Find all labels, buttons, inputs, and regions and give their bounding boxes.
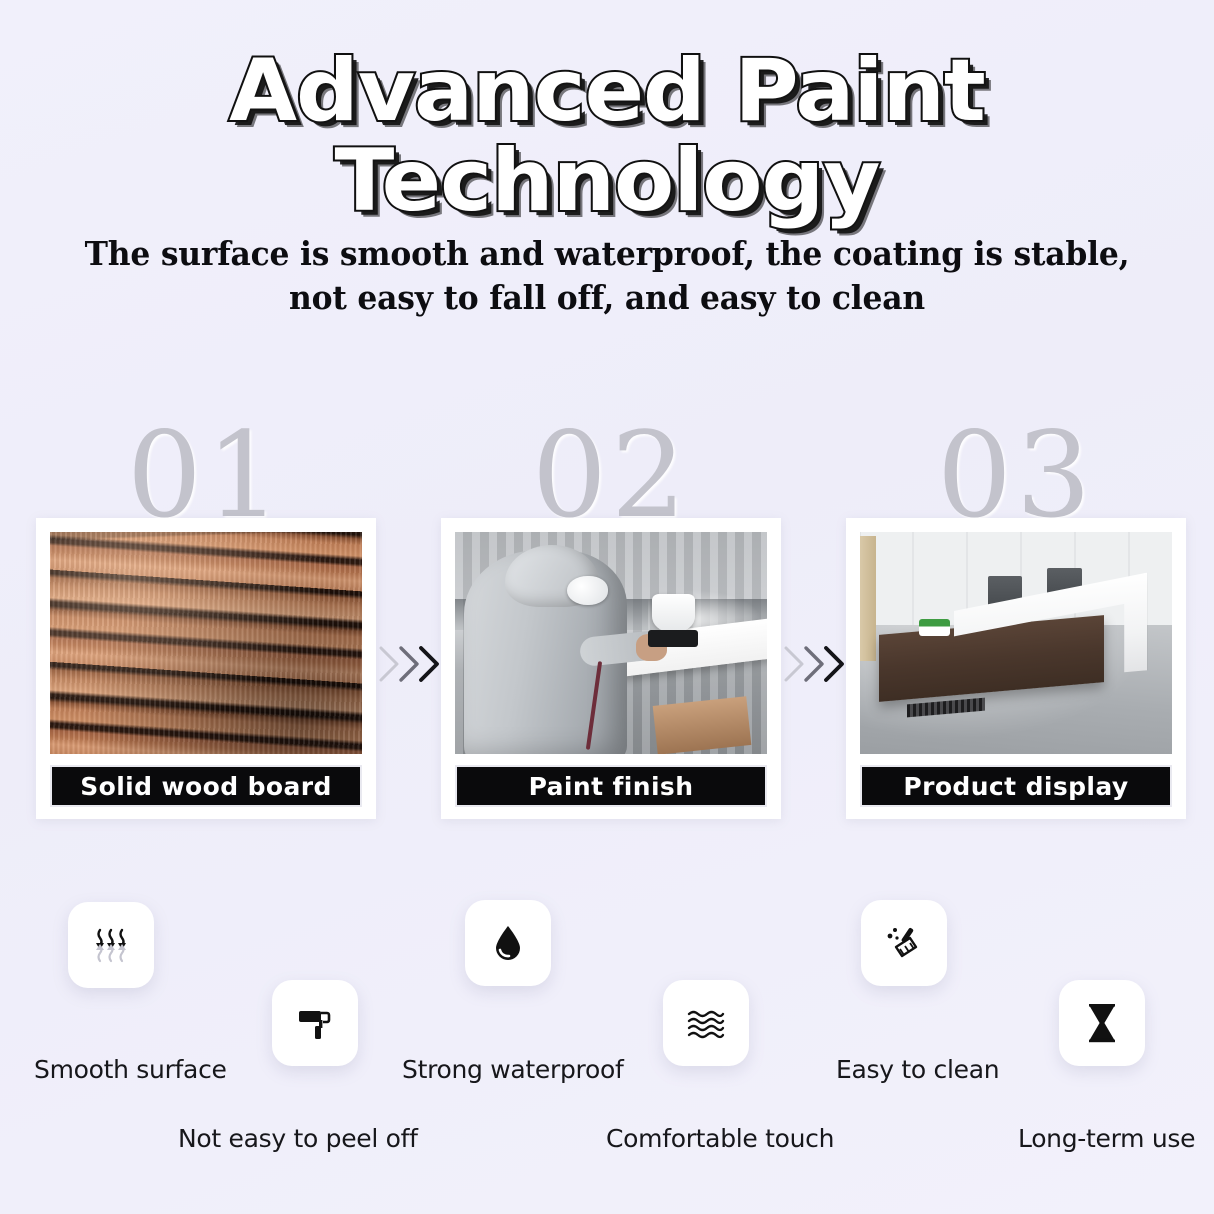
- feature-tile-3[interactable]: [465, 900, 551, 986]
- step-caption-3: Product display: [860, 765, 1172, 807]
- feature-label-3: Strong waterproof: [402, 1055, 623, 1084]
- wavy-lines-icon: [684, 1005, 728, 1041]
- step-caption-2: Paint finish: [455, 765, 767, 807]
- wood-boards-photo: [50, 532, 362, 754]
- feature-tile-1[interactable]: [68, 902, 154, 988]
- feature-label-1: Smooth surface: [34, 1055, 227, 1084]
- subtitle-line-2: not easy to fall off, and easy to clean: [30, 276, 1183, 320]
- step-number-03: 03: [937, 416, 1095, 534]
- feature-tile-2[interactable]: [272, 980, 358, 1066]
- step-separator-arrow-2: [782, 640, 848, 688]
- subtitle-line-1: The surface is smooth and waterproof, th…: [30, 232, 1183, 276]
- feature-label-6: Long-term use: [1018, 1124, 1195, 1153]
- spray-painting-photo: [455, 532, 767, 754]
- step-card-2[interactable]: Paint finish: [441, 518, 781, 819]
- feature-label-2: Not easy to peel off: [178, 1124, 418, 1153]
- step-card-3[interactable]: Product display: [846, 518, 1186, 819]
- broom-icon: [882, 921, 926, 965]
- product-display-photo: [860, 532, 1172, 754]
- paint-roller-icon: [293, 1001, 337, 1045]
- feature-list: Smooth surface Not easy to peel off: [0, 880, 1214, 1214]
- feature-label-4: Comfortable touch: [606, 1124, 834, 1153]
- feature-tile-5[interactable]: [861, 900, 947, 986]
- feature-tile-6[interactable]: [1059, 980, 1145, 1066]
- page-title: Advanced Paint Technology: [0, 46, 1214, 227]
- step-number-02: 02: [532, 416, 690, 534]
- feature-label-5: Easy to clean: [836, 1055, 999, 1084]
- page-subtitle: The surface is smooth and waterproof, th…: [30, 232, 1183, 320]
- page-title-wrap: Advanced Paint Technology: [0, 46, 1214, 227]
- down-arrows-icon: [89, 923, 133, 967]
- hourglass-icon: [1083, 1001, 1121, 1045]
- process-steps: 01 Solid wood board 02: [0, 418, 1214, 848]
- feature-tile-4[interactable]: [663, 980, 749, 1066]
- infographic-page: Advanced Paint Technology The surface is…: [0, 0, 1214, 1214]
- step-card-1[interactable]: Solid wood board: [36, 518, 376, 819]
- step-separator-arrow-1: [377, 640, 443, 688]
- water-drop-icon: [487, 922, 529, 964]
- step-caption-1: Solid wood board: [50, 765, 362, 807]
- step-number-01: 01: [127, 416, 285, 534]
